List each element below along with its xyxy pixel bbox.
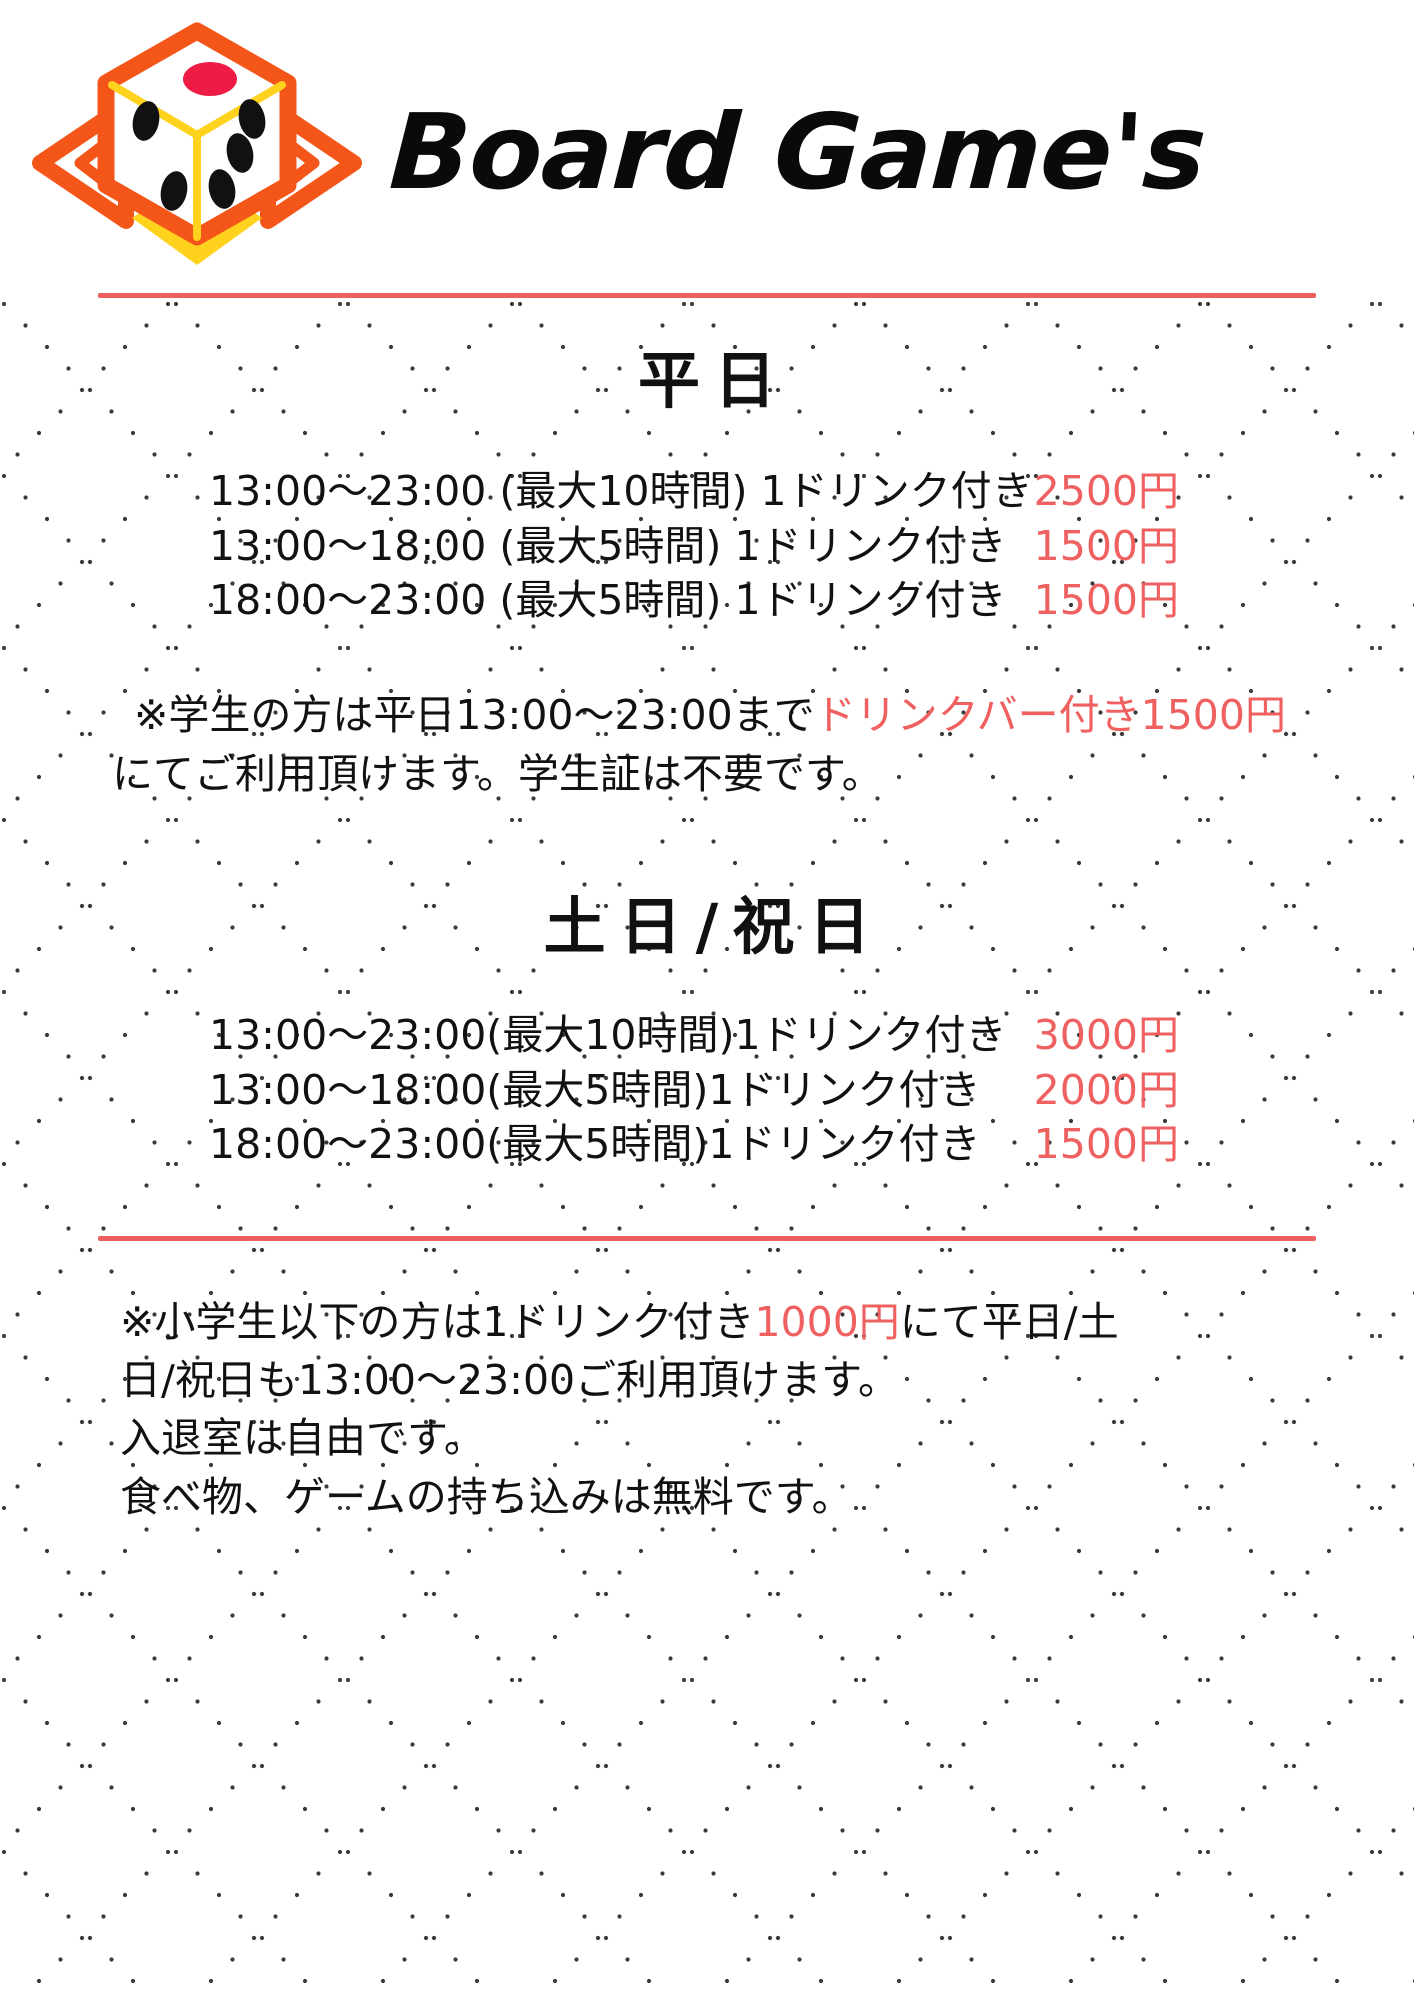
table-row: 13:00〜18:00 (最大5時間) 1ドリンク付き 1500円 <box>117 519 1297 574</box>
footer-child-part1: ※小学生以下の方は1ドリンク付き <box>120 1298 754 1346</box>
weekend-row-1-desc: 13:00〜18:00(最大5時間)1ドリンク付き <box>117 1063 1027 1118</box>
student-note-part2: にてご利用頂けます。学生証は不要です。 <box>112 750 883 798</box>
poster-header: Board Game's <box>0 0 1414 285</box>
student-note-part1: ※学生の方は平日13:00〜23:00まで <box>112 691 815 739</box>
student-note-highlight-price: 1500円 <box>1141 691 1286 739</box>
weekday-row-0-price: 2500円 <box>1033 464 1297 519</box>
footer-notes: ※小学生以下の方は1ドリンク付き1000円にて平日/土 日/祝日も13:00〜2… <box>112 1293 1302 1526</box>
weekday-heading: 平日 <box>0 350 1414 412</box>
weekday-row-1-desc: 13:00〜18:00 (最大5時間) 1ドリンク付き <box>117 519 1033 574</box>
weekend-row-1-price: 2000円 <box>1027 1063 1297 1118</box>
weekend-row-2-price: 1500円 <box>1027 1117 1297 1172</box>
weekday-row-2-desc: 18:00〜23:00 (最大5時間) 1ドリンク付き <box>117 573 1033 628</box>
student-note: ※学生の方は平日13:00〜23:00までドリンクバー付き1500円にてご利用頂… <box>112 686 1302 805</box>
footer-note-entry: 入退室は自由です。 <box>120 1409 1302 1467</box>
weekday-row-0-desc: 13:00〜23:00 (最大10時間) 1ドリンク付き <box>117 464 1033 519</box>
weekend-row-0-price: 3000円 <box>1027 1008 1297 1063</box>
table-row: 13:00〜23:00(最大10時間)1ドリンク付き 3000円 <box>117 1008 1297 1063</box>
table-row: 18:00〜23:00 (最大5時間) 1ドリンク付き 1500円 <box>117 573 1297 628</box>
table-row: 13:00〜23:00 (最大10時間) 1ドリンク付き 2500円 <box>117 464 1297 519</box>
footer-note-child: ※小学生以下の方は1ドリンク付き1000円にて平日/土 <box>120 1293 1302 1351</box>
table-row: 13:00〜18:00(最大5時間)1ドリンク付き 2000円 <box>117 1063 1297 1118</box>
brand-title: Board Game's <box>387 100 1414 204</box>
footer-child-price: 1000円 <box>754 1298 899 1346</box>
table-row: 18:00〜23:00(最大5時間)1ドリンク付き 1500円 <box>117 1117 1297 1172</box>
brand-logo <box>22 13 372 273</box>
isometric-dice-logo-icon <box>22 13 372 273</box>
footer-note-byo: 食べ物、ゲームの持ち込みは無料です。 <box>120 1468 1302 1526</box>
weekday-price-table: 13:00〜23:00 (最大10時間) 1ドリンク付き 2500円 13:00… <box>117 464 1297 628</box>
weekend-row-2-desc: 18:00〜23:00(最大5時間)1ドリンク付き <box>117 1117 1027 1172</box>
student-note-highlight-drinkbar: ドリンクバー付き <box>815 691 1141 739</box>
poster-page: Board Game's 平日 13:00〜23:00 (最大10時間) 1ドリ… <box>0 0 1414 2000</box>
footer-child-part2: にて平日/土 <box>900 1298 1119 1346</box>
weekend-price-table: 13:00〜23:00(最大10時間)1ドリンク付き 3000円 13:00〜1… <box>117 1008 1297 1172</box>
weekend-row-0-desc: 13:00〜23:00(最大10時間)1ドリンク付き <box>117 1008 1027 1063</box>
weekday-row-1-price: 1500円 <box>1033 519 1297 574</box>
weekday-row-2-price: 1500円 <box>1033 573 1297 628</box>
footer-note-child-line2: 日/祝日も13:00〜23:00ご利用頂けます。 <box>120 1351 1302 1409</box>
weekend-heading: 土日/祝日 <box>0 896 1414 958</box>
